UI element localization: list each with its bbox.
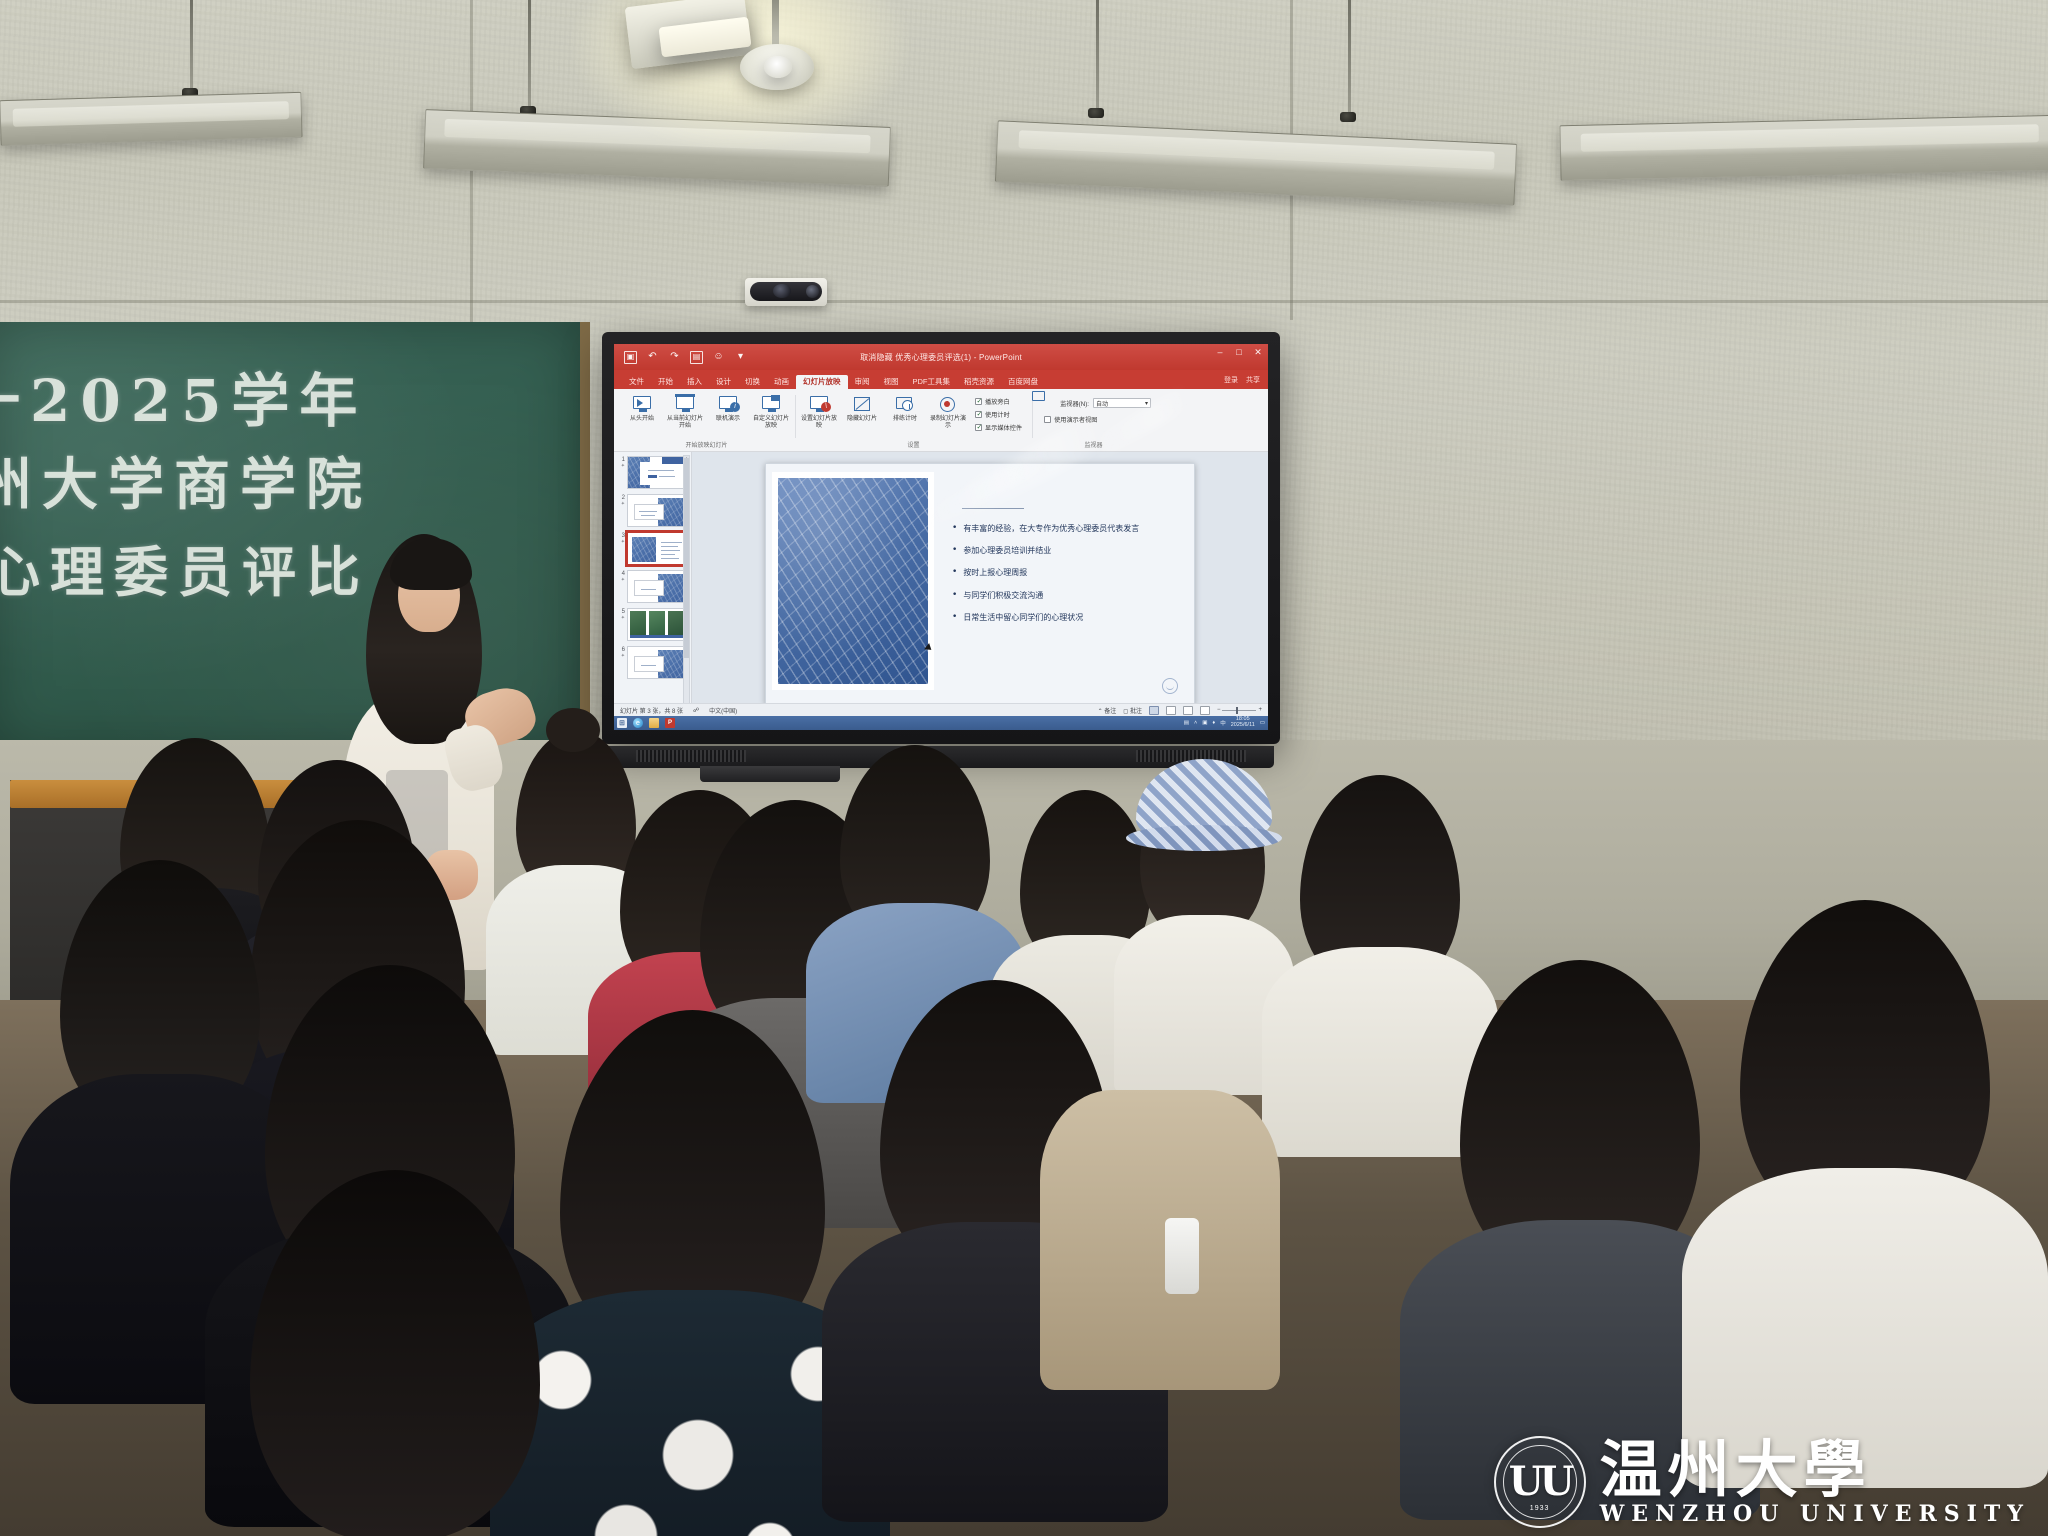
scrollbar-thumb[interactable] [684,458,689,658]
zoom-slider[interactable]: − + [1217,707,1262,713]
thumbnail-number: 3✦ [616,532,625,545]
presenter-icon[interactable]: ☺ [712,351,725,364]
redo-icon[interactable]: ↷ [668,351,681,364]
ceiling-light-batten [0,92,303,146]
tab-file[interactable]: 文件 [622,375,651,390]
ribbon-group-start-slideshow: 从头开始 从当前幻灯片开始 i [618,391,795,451]
smart-display: ▣ ↶ ↷ ▤ ☺ ▾ 取消隐藏 优秀心理委员评选(1) - PowerPoin… [602,332,1280,744]
share-label[interactable]: 共享 [1246,375,1260,385]
minimize-button[interactable]: – [1215,348,1225,357]
audience-member [516,730,636,900]
audience-member-with-cap [1140,765,1265,940]
volume-icon[interactable]: ♦ [1212,720,1215,726]
bullet-item: • 有丰富的经验，在大专作为优秀心理委员代表发言 [952,524,1180,533]
slide-thumbnail-pane[interactable]: 1✦ [614,452,692,716]
tab-baidu-netdisk[interactable]: 百度网盘 [1001,375,1045,390]
tab-home[interactable]: 开始 [651,375,680,390]
blackboard-line-1: 一2025学年 [0,354,367,438]
checkbox-play-narrations[interactable]: 播放旁白 [975,397,1022,406]
taskbar-clock[interactable]: 18:05 2025/6/11 [1231,717,1255,729]
quick-access-toolbar[interactable]: ▣ ↶ ↷ ▤ ☺ ▾ [620,351,747,364]
zoom-track[interactable] [1222,710,1256,711]
monitor-select[interactable]: 自动 ▾ [1093,398,1151,408]
thumbnail-item-2[interactable]: 2✦ [616,494,689,527]
setup-slideshow-label: 设置幻灯片放映 [799,416,839,429]
setup-slideshow-icon: \ [807,394,831,414]
tab-slideshow[interactable]: 幻灯片放映 [796,375,848,390]
ribbon: 从头开始 从当前幻灯片开始 i [614,389,1268,452]
rehearse-timings-icon [893,394,917,414]
bullet-text: 按时上报心理周报 [963,568,1027,577]
ribbon-group-label-start: 开始放映幻灯片 [622,440,791,451]
camera-sensor-icon [806,285,819,298]
tab-animations[interactable]: 动画 [767,375,796,390]
monitor-row[interactable]: 监视器(N): 自动 ▾ [1042,393,1151,409]
thumbnail-scrollbar[interactable]: ▲ ▼ [683,455,690,713]
bullet-item: • 参加心理委员培训并结业 [952,546,1180,555]
audience-member [1040,1090,1240,1210]
speaker-grille [636,750,746,762]
thumbnail-number: 5✦ [616,608,625,621]
network-icon[interactable]: ▣ [1202,720,1207,726]
thumbnail-item-1[interactable]: 1✦ [616,456,689,489]
slide-counter[interactable]: 幻灯片 第 3 张，共 8 张 [620,706,683,715]
light-rod [190,0,193,92]
restore-button[interactable]: □ [1234,348,1244,357]
ribbon-group-monitors: 监视器(N): 自动 ▾ 使用演示者视图 监视器 [1032,391,1155,451]
checkbox-box[interactable] [975,424,982,431]
language-indicator[interactable]: 中文(中国) [709,706,737,715]
powerpoint-icon[interactable]: P [665,718,675,728]
hide-slide-button[interactable]: 隐藏幻灯片 [842,393,882,423]
edge-icon[interactable]: e [633,718,643,728]
fan-stem [772,0,779,46]
system-tray: ▤ ˄ ▣ ♦ 中 18:05 2025/6/11 ▭ [1184,717,1265,729]
thumbnail-preview[interactable] [627,608,685,641]
thumbnail-preview-selected[interactable] [627,532,685,565]
audience-member [250,1170,540,1536]
rehearse-timings-label: 排练计时 [893,416,917,423]
checkbox-use-timings-label: 使用计时 [985,410,1010,419]
classroom-scene: 一2025学年 州大学商学院 心理委员评比 ▣ ↶ ↷ ▤ ☺ ▾ [0,0,2048,1536]
chevron-down-icon[interactable]: ▾ [1145,400,1148,407]
wall-seam [0,300,2048,303]
water-bottle [1165,1218,1199,1294]
editor-body: 1✦ [614,452,1268,716]
bullet-item: • 按时上报心理周报 [952,568,1180,577]
camera-lens-icon [773,284,791,298]
blackboard-line-2: 州大学商学院 [0,440,372,521]
monitor-icon [1042,397,1056,409]
bullet-dot-icon: • [952,591,957,600]
checkbox-presenter-view[interactable]: 使用演示者视图 [1042,415,1097,424]
custom-slideshow-button[interactable]: 自定义幻灯片放映 [751,393,791,429]
hide-slide-icon [850,394,874,414]
ime-icon[interactable]: 中 [1220,719,1226,727]
play-from-current-label: 从当前幻灯片开始 [665,416,705,429]
slide-canvas-area[interactable]: • 有丰富的经验，在大专作为优秀心理委员代表发言 • 参加心理委员培训并结业 •… [692,452,1268,716]
thumbnail-number: 4✦ [616,570,625,583]
bullet-dot-icon: • [952,524,957,533]
tray-app-icon[interactable]: ▤ [1184,720,1189,726]
save-icon[interactable]: ▣ [624,351,637,364]
checkbox-use-timings[interactable]: 使用计时 [975,410,1022,419]
bullet-text: 参加心理委员培训并结业 [963,546,1051,555]
slide-bullet-list[interactable]: • 有丰富的经验，在大专作为优秀心理委员代表发言 • 参加心理委员培训并结业 •… [952,524,1180,622]
checkbox-presenter-view-label: 使用演示者视图 [1054,415,1097,424]
zoom-in-button[interactable]: + [1258,707,1262,713]
tab-view[interactable]: 视图 [877,375,906,390]
powerpoint-window: ▣ ↶ ↷ ▤ ☺ ▾ 取消隐藏 优秀心理委员评选(1) - PowerPoin… [614,344,1268,730]
monitor-label: 监视器(N): [1060,399,1089,408]
bullet-item: • 日常生活中留心同学们的心理状况 [952,613,1180,622]
reading-view-button[interactable] [1183,706,1193,715]
present-online-icon: i [716,394,740,414]
hide-slide-label: 隐藏幻灯片 [847,416,877,423]
fan-cap [764,56,792,78]
play-from-current-icon [673,394,697,414]
checkbox-box[interactable] [975,398,982,405]
customize-qat-icon[interactable]: ▾ [734,351,747,364]
clock-date: 2025/6/11 [1231,723,1255,729]
show-hidden-icons[interactable]: ˄ [1194,720,1197,726]
record-slideshow-icon [936,394,960,414]
display-control-panel [700,766,840,782]
account-label[interactable]: 登录 [1224,375,1238,385]
audience-member [840,745,990,945]
thumbnail-item-5[interactable]: 5✦ [616,608,689,641]
thumbnail-preview[interactable] [627,646,685,679]
ribbon-tabs[interactable]: 文件 开始 插入 设计 切换 动画 幻灯片放映 审阅 视图 PDF工具集 稻壳资… [614,370,1268,389]
custom-slideshow-icon [759,394,783,414]
play-from-start-label: 从头开始 [630,416,654,423]
rehearse-timings-button[interactable]: 排练计时 [885,393,925,423]
windows-taskbar: ⊞ e P ▤ ˄ ▣ ♦ 中 18:05 2025/6/11 [614,716,1268,730]
light-rod [1348,0,1351,116]
thumbnail-number: 2✦ [616,494,625,507]
window-controls[interactable]: – □ ✕ [1215,348,1263,357]
thumbnail-preview[interactable] [627,494,685,527]
light-rod [1096,0,1099,112]
tab-insert[interactable]: 插入 [680,375,709,390]
checkbox-show-media-controls-label: 显示媒体控件 [985,423,1022,432]
ribbon-group-label-setup: 设置 [799,440,1028,451]
tab-design[interactable]: 设计 [709,375,738,390]
webcam-bar [745,278,827,306]
tab-review[interactable]: 审阅 [848,375,877,390]
slideshow-button[interactable] [1200,706,1210,715]
present-online-label: 联机演示 [716,416,740,423]
light-rod-cap [1088,108,1104,118]
ceiling-light-batten [1559,115,2048,181]
audience-member [1740,900,1990,1230]
play-from-current-button[interactable]: 从当前幻灯片开始 [665,393,705,429]
normal-view-button[interactable] [1149,706,1159,715]
record-slideshow-button[interactable]: 录制幻灯片演示 [928,393,968,429]
thumbnail-item-3[interactable]: 3✦ [616,532,689,565]
thumbnail-item-4[interactable]: 4✦ [616,570,689,603]
accessibility-icon[interactable]: ☍ [693,707,699,714]
play-from-start-button[interactable]: 从头开始 [622,393,662,423]
record-slideshow-label: 录制幻灯片演示 [928,416,968,429]
audience-member [1460,960,1700,1280]
thumbnail-number: 6✦ [616,646,625,659]
start-button[interactable]: ⊞ [617,718,627,728]
current-slide[interactable]: • 有丰富的经验，在大专作为优秀心理委员代表发言 • 参加心理委员培训并结业 •… [765,463,1195,705]
light-rod [528,0,531,110]
bullet-text: 有丰富的经验，在大专作为优秀心理委员代表发言 [963,524,1139,533]
checkbox-box[interactable] [1044,416,1051,423]
slide-image[interactable] [778,478,928,684]
undo-icon[interactable]: ↶ [646,351,659,364]
zoom-knob[interactable] [1236,707,1238,714]
audience-member [1300,775,1460,990]
comments-button[interactable]: ◻ 批注 [1123,706,1142,715]
slide-sorter-button[interactable] [1166,706,1176,715]
hair-bun [546,708,600,752]
zoom-out-button[interactable]: − [1217,707,1221,713]
custom-slideshow-label: 自定义幻灯片放映 [751,416,791,429]
signin-area[interactable]: 登录 共享 [1224,375,1260,385]
file-explorer-icon[interactable] [649,718,659,728]
start-presentation-icon[interactable]: ▤ [690,351,703,364]
checkbox-box[interactable] [975,411,982,418]
ribbon-group-label-monitors: 监视器 [1036,440,1151,451]
hat-brim [1126,825,1282,851]
bullet-text: 与同学们积极交流沟通 [963,591,1043,600]
tab-transitions[interactable]: 切换 [738,375,767,390]
thumbnail-preview[interactable] [627,456,685,489]
monitor-value: 自动 [1096,399,1108,408]
checkbox-show-media-controls[interactable]: 显示媒体控件 [975,423,1022,432]
light-rod-cap [1340,112,1356,122]
slideshow-options: 播放旁白 使用计时 显示媒体控件 [971,393,1028,432]
slide-emblem-icon [1162,678,1178,694]
notes-button[interactable]: ⌃ 备注 [1098,706,1117,715]
audience-member [60,860,260,1130]
close-button[interactable]: ✕ [1253,348,1263,357]
status-bar: 幻灯片 第 3 张，共 8 张 ☍ 中文(中国) ⌃ 备注 ◻ 批注 − [614,703,1268,716]
audience-member-floral [560,1010,825,1360]
display-screen: ▣ ↶ ↷ ▤ ☺ ▾ 取消隐藏 优秀心理委员评选(1) - PowerPoin… [614,344,1268,730]
blackboard-line-3: 心理委员评比 [0,528,370,607]
bullet-dot-icon: • [952,613,957,622]
ribbon-group-setup: \ 设置幻灯片放映 隐藏幻灯片 [795,391,1032,451]
present-online-button[interactable]: i 联机演示 [708,393,748,423]
bullet-dot-icon: • [952,546,957,555]
bullet-text: 日常生活中留心同学们的心理状况 [963,613,1083,622]
status-bar-right: ⌃ 备注 ◻ 批注 − + [1098,706,1262,715]
bullet-dot-icon: • [952,568,957,577]
bullet-item: • 与同学们积极交流沟通 [952,591,1180,600]
slide-divider [962,508,1024,509]
tab-pdf-tools[interactable]: PDF工具集 [906,375,958,390]
thumbnail-item-6[interactable]: 6✦ [616,646,689,679]
title-bar: ▣ ↶ ↷ ▤ ☺ ▾ 取消隐藏 优秀心理委员评选(1) - PowerPoin… [614,344,1268,370]
play-from-start-icon [630,394,654,414]
show-desktop-button[interactable]: ▭ [1260,720,1265,726]
checkbox-play-narrations-label: 播放旁白 [985,397,1010,406]
setup-slideshow-button[interactable]: \ 设置幻灯片放映 [799,393,839,429]
thumbnail-preview[interactable] [627,570,685,603]
tab-docer[interactable]: 稻壳资源 [957,375,1001,390]
thumbnail-number: 1✦ [616,456,625,469]
